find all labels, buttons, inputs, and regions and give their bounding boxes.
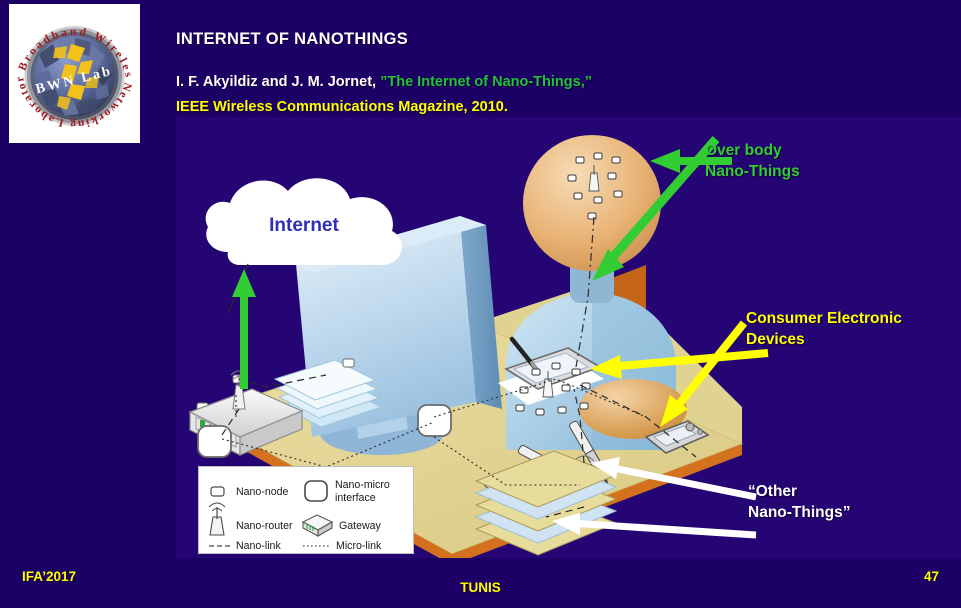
slide-canvas: Broadband Wireless Networking Laboratory… (0, 0, 961, 608)
citation-line-2: IEEE Wireless Communications Magazine, 2… (176, 99, 508, 115)
slide-footer: IFA’2017 TUNIS 47 (0, 558, 961, 608)
logo-graphic: Broadband Wireless Networking Laboratory… (9, 4, 140, 143)
nano-router-icon (209, 503, 225, 535)
page-title: INTERNET OF NANOTHINGS (176, 30, 408, 49)
legend-label-nano-micro-2: interface (335, 492, 376, 504)
nano-node-icon (211, 487, 224, 496)
annotation-other-nanothings: “Other Nano-Things” (748, 482, 850, 523)
nano-micro-interface-desk-center (418, 405, 451, 436)
legend-label-nano-node: Nano-node (236, 486, 289, 498)
legend-label-nano-router: Nano-router (236, 520, 293, 532)
legend-label-gateway: Gateway (339, 520, 382, 532)
footer-location: TUNIS (0, 580, 961, 595)
legend-label-nano-link: Nano-link (236, 540, 281, 552)
cloud-label: Internet (269, 215, 339, 236)
nano-micro-interface-icon (305, 481, 327, 501)
legend-label-nano-micro-1: Nano-micro (335, 479, 390, 491)
citation-authors: I. F. Akyildiz and J. M. Jornet, (176, 74, 380, 90)
legend-graphic: Nano-node Nano-micro interface Nano-rout… (199, 467, 413, 553)
slide-number: 47 (924, 569, 939, 584)
citation-line-1: I. F. Akyildiz and J. M. Jornet, ”The In… (176, 74, 592, 90)
legend-box: Nano-node Nano-micro interface Nano-rout… (198, 466, 414, 554)
annotation-over-body-nanothings: Over body Nano-Things (705, 141, 800, 182)
annotation-consumer-electronic-devices: Consumer Electronic Devices (746, 309, 902, 350)
gateway-icon (303, 515, 332, 536)
bwn-lab-logo: Broadband Wireless Networking Laboratory… (9, 4, 140, 143)
citation-paper-title: ”The Internet of Nano-Things,” (380, 74, 592, 90)
green-arrow-to-cloud (232, 269, 256, 389)
nano-micro-interface-desk-left (198, 426, 231, 457)
legend-label-micro-link: Micro-link (336, 540, 382, 552)
